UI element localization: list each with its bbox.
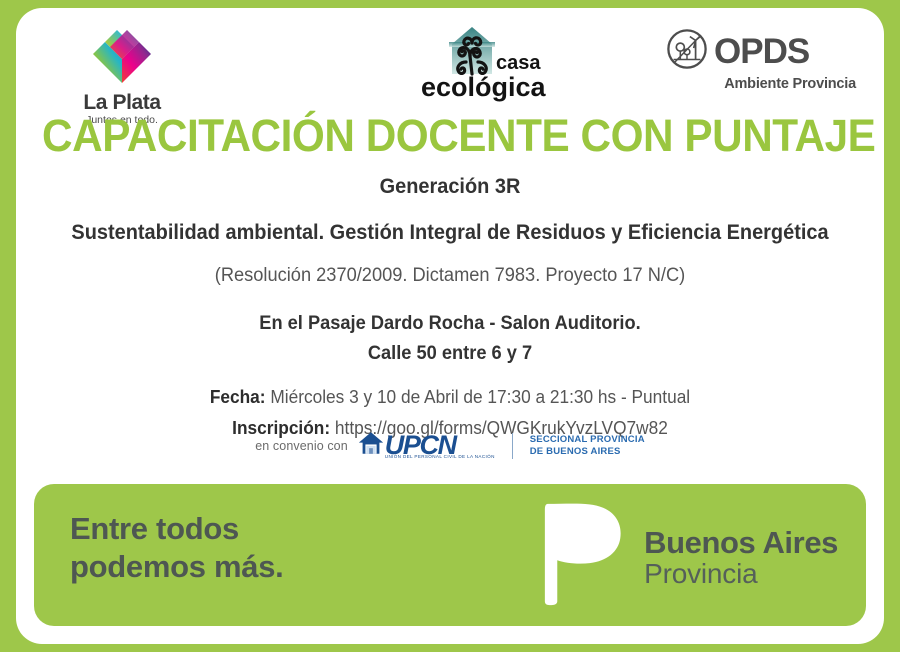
date-line: Fecha: Miércoles 3 y 10 de Abril de 17:3… <box>33 387 866 408</box>
footer-slogan-line-2: podemos más. <box>70 548 283 586</box>
upcn-divider <box>512 433 513 459</box>
upcn-section: SECCIONAL PROVINCIA DE BUENOS AIRES <box>530 434 645 458</box>
logo-row: La Plata Juntos en todo. <box>16 20 884 110</box>
resolution-text: (Resolución 2370/2009. Dictamen 7983. Pr… <box>33 265 866 287</box>
house-icon <box>357 430 385 462</box>
main-content: CAPACITACIÓN DOCENTE CON PUNTAJE Generac… <box>16 112 884 439</box>
logo-casa-ecologica: casa ecológica casa ecológica <box>400 22 550 102</box>
convenio-label: en convenio con <box>255 439 348 453</box>
upcn-section-line-1: SECCIONAL PROVINCIA <box>530 434 645 446</box>
svg-text:ecológica: ecológica <box>421 72 547 102</box>
opds-subtitle: Ambiente Provincia <box>666 76 856 92</box>
page-title: CAPACITACIÓN DOCENTE CON PUNTAJE <box>42 112 858 159</box>
venue-line-2: Calle 50 entre 6 y 7 <box>33 343 866 365</box>
poster-card: La Plata Juntos en todo. <box>16 8 884 644</box>
upcn-expansion: UNIÓN DEL PERSONAL CIVIL DE LA NACIÓN <box>385 455 495 460</box>
date-label: Fecha: <box>210 387 266 407</box>
heart-chevron-gradient-icon <box>85 26 159 88</box>
date-value: Miércoles 3 y 10 de Abril de 17:30 a 21:… <box>270 387 690 407</box>
poster: La Plata Juntos en todo. <box>0 0 900 652</box>
logo-upcn: UPCN UNIÓN DEL PERSONAL CIVIL DE LA NACI… <box>357 430 495 462</box>
logo-buenos-aires-provincia: Buenos Aires Provincia <box>540 502 838 612</box>
logo-opds: OPDS Ambiente Provincia <box>666 28 856 92</box>
footer-band: Entre todos podemos más. Buenos Aires Pr… <box>34 484 866 626</box>
circle-tree-windmill-icon <box>666 28 708 75</box>
partner-row: en convenio con UPCN UNIÓN DEL PERSONAL … <box>16 430 884 462</box>
footer-slogan-line-1: Entre todos <box>70 510 283 548</box>
svg-text:casa: casa <box>496 52 541 74</box>
brand-line-2: Provincia <box>644 560 838 588</box>
course-title: Sustentabilidad ambiental. Gestión Integ… <box>38 221 863 245</box>
generation-subtitle: Generación 3R <box>38 175 863 199</box>
pennant-flag-icon <box>540 502 628 612</box>
footer-slogan: Entre todos podemos más. <box>70 510 283 586</box>
opds-wordmark: OPDS <box>714 35 809 68</box>
venue-line-1: En el Pasaje Dardo Rocha - Salon Auditor… <box>33 313 866 335</box>
upcn-section-line-2: DE BUENOS AIRES <box>530 446 645 458</box>
brand-line-1: Buenos Aires <box>644 527 838 558</box>
